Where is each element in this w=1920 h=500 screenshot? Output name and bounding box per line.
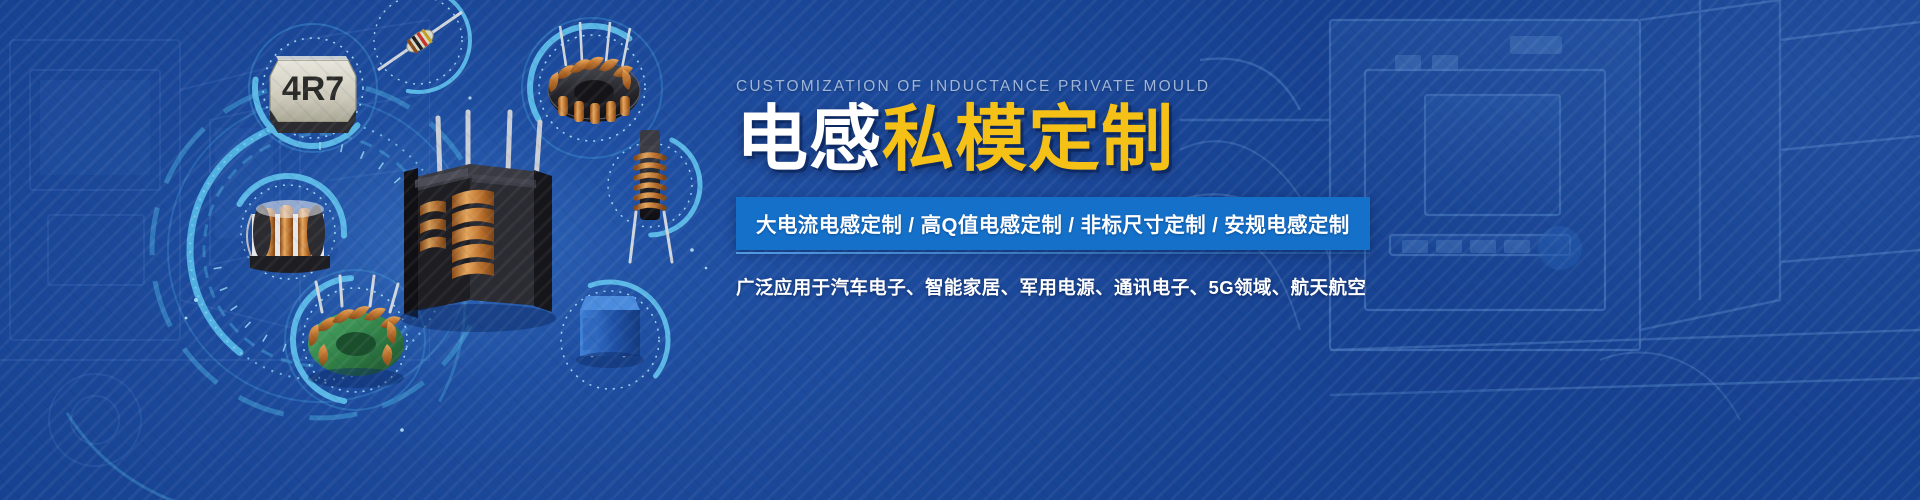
banner-headline: 电感私模定制 <box>736 104 1376 177</box>
feature-bar-underline <box>736 252 1370 254</box>
banner-description: 广泛应用于汽车电子、智能家居、军用电源、通讯电子、5G领域、航天航空 <box>736 274 1376 300</box>
banner-eyebrow-english: CUSTOMIZATION OF INDUCTANCE PRIVATE MOUL… <box>736 78 1376 96</box>
promo-banner: 4R7 <box>0 0 1920 500</box>
headline-yellow-part: 私模定制 <box>882 100 1174 180</box>
headline-white-part: 电感 <box>736 100 882 180</box>
banner-text-block: CUSTOMIZATION OF INDUCTANCE PRIVATE MOUL… <box>736 78 1376 300</box>
feature-bar: 大电流电感定制 / 高Q值电感定制 / 非标尺寸定制 / 安规电感定制 <box>736 197 1370 250</box>
feature-bar-text: 大电流电感定制 / 高Q值电感定制 / 非标尺寸定制 / 安规电感定制 <box>756 208 1350 238</box>
